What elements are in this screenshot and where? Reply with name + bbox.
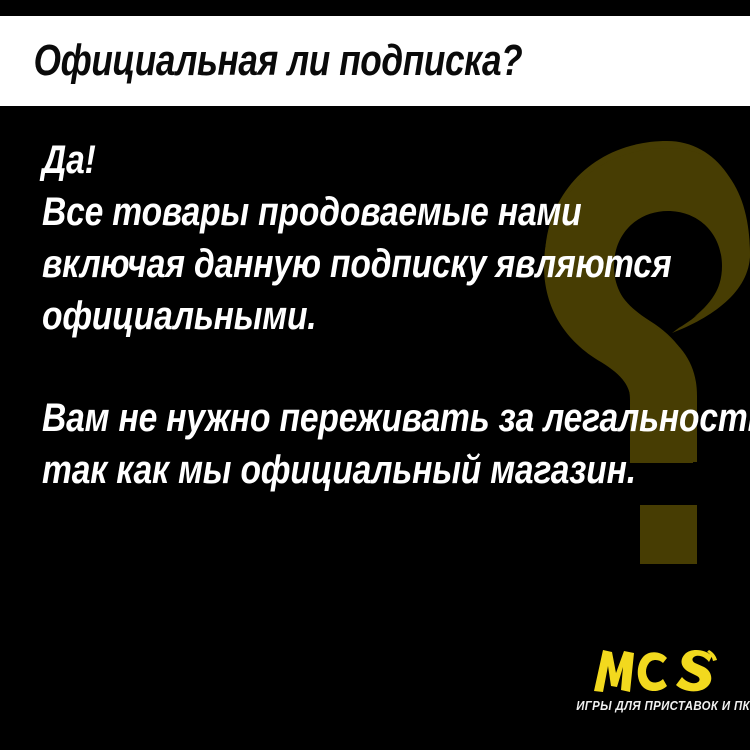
body-line: так как мы официальный магазин. (42, 444, 622, 496)
body-line: Все товары продоваемые нами (42, 186, 622, 238)
brand-logo: ИГРЫ ДЛЯ ПРИСТАВОК И ПК (557, 647, 717, 712)
header-band: Официальная ли подписка? (0, 16, 750, 106)
body-line: официальными. (42, 290, 622, 342)
page-title: Официальная ли подписка? (0, 39, 522, 83)
body-copy: Да! Все товары продоваемые нами включая … (42, 134, 732, 496)
body-line: включая данную подписку являются (42, 238, 622, 290)
paragraph-2: Вам не нужно переживать за легальность, … (42, 392, 732, 496)
paragraph-1: Да! Все товары продоваемые нами включая … (42, 134, 732, 342)
body-line: Да! (42, 134, 622, 186)
mcs-wordmark-icon (591, 647, 717, 693)
body-line: Вам не нужно переживать за легальность, (42, 392, 622, 444)
promo-poster: Официальная ли подписка? Да! Все товары … (0, 0, 750, 750)
logo-tagline: ИГРЫ ДЛЯ ПРИСТАВОК И ПК (576, 699, 717, 712)
